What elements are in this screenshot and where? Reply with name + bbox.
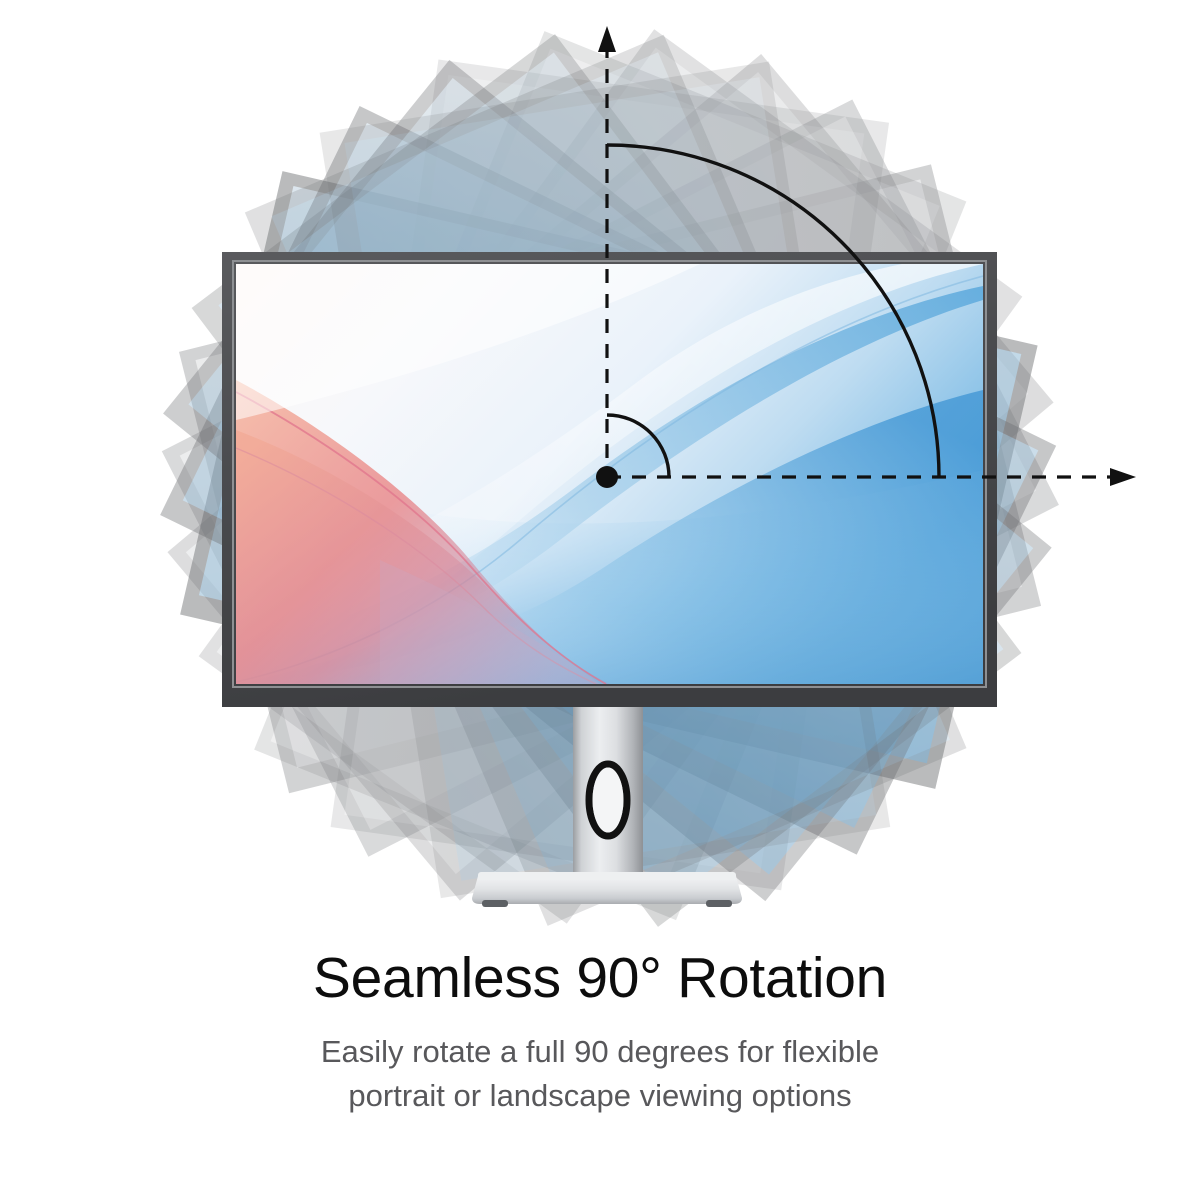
caption-block: Seamless 90° Rotation Easily rotate a fu… xyxy=(0,948,1200,1118)
stand-foot xyxy=(482,900,508,907)
subtitle: Easily rotate a full 90 degrees for flex… xyxy=(0,1030,1200,1118)
stand-foot xyxy=(706,900,732,907)
arrow-up-icon xyxy=(598,26,616,52)
subtitle-line-1: Easily rotate a full 90 degrees for flex… xyxy=(0,1030,1200,1074)
rotation-diagram-scene xyxy=(0,0,1200,940)
subtitle-line-2: portrait or landscape viewing options xyxy=(0,1074,1200,1118)
monitor-rotation-illustration xyxy=(0,0,1200,940)
page-title: Seamless 90° Rotation xyxy=(0,948,1200,1008)
pivot-dot-icon xyxy=(596,466,618,488)
arrow-right-icon xyxy=(1110,468,1136,486)
stand-base xyxy=(472,876,742,904)
marketing-image: Seamless 90° Rotation Easily rotate a fu… xyxy=(0,0,1200,1200)
